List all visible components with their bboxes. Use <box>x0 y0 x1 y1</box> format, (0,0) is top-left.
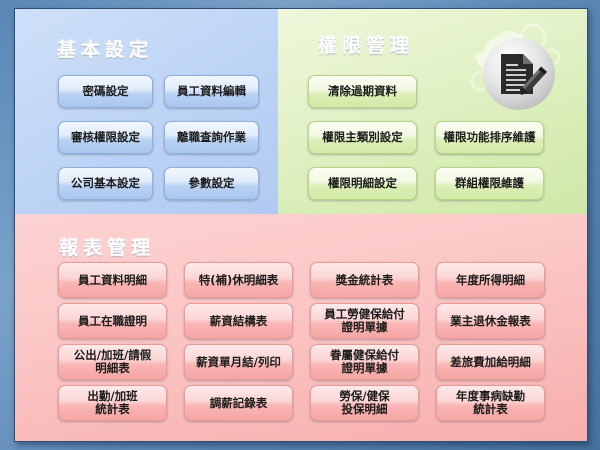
button-label: 權限明細設定 <box>328 177 397 190</box>
panel-title-report-management: 報表管理 <box>59 233 155 260</box>
button-report-13[interactable]: 出勤/加班 統計表 <box>58 385 167 421</box>
button-label: 業主退休金報表 <box>450 315 531 328</box>
button-label: 參數設定 <box>189 177 235 190</box>
button-basic-4[interactable]: 離職查詢作業 <box>164 121 259 154</box>
button-report-5[interactable]: 員工在職證明 <box>58 303 167 339</box>
button-label: 員工勞健保給付 證明單據 <box>324 308 405 334</box>
application-window: 基本設定 權限管理 <box>0 0 600 450</box>
button-label: 清除過期資料 <box>328 85 397 98</box>
button-report-4[interactable]: 年度所得明細 <box>436 262 545 298</box>
button-label: 差旅費加給明細 <box>450 356 531 369</box>
button-basic-6[interactable]: 參數設定 <box>164 167 259 200</box>
button-report-10[interactable]: 薪資單月結/列印 <box>184 344 293 380</box>
button-label: 群組權限維護 <box>455 177 524 190</box>
button-report-2[interactable]: 特(補)休明細表 <box>184 262 293 298</box>
button-label: 獎金統計表 <box>336 274 394 287</box>
button-report-12[interactable]: 差旅費加給明細 <box>436 344 545 380</box>
panel-title-basic-settings: 基本設定 <box>57 35 153 62</box>
button-report-6[interactable]: 薪資結構表 <box>184 303 293 339</box>
button-perm-3[interactable]: 權限功能排序維護 <box>435 121 544 154</box>
button-basic-1[interactable]: 密碼設定 <box>58 75 153 108</box>
button-report-1[interactable]: 員工資料明細 <box>58 262 167 298</box>
button-label: 調薪記錄表 <box>210 397 268 410</box>
button-label: 眷屬健保給付 證明單據 <box>330 349 399 375</box>
button-report-7[interactable]: 員工勞健保給付 證明單據 <box>310 303 419 339</box>
button-label: 離職查詢作業 <box>177 131 246 144</box>
button-report-15[interactable]: 勞保/健保 投保明細 <box>310 385 419 421</box>
button-label: 員工資料明細 <box>78 274 147 287</box>
button-label: 密碼設定 <box>83 85 129 98</box>
button-report-14[interactable]: 調薪記錄表 <box>184 385 293 421</box>
button-label: 權限功能排序維護 <box>444 131 536 144</box>
button-perm-1[interactable]: 清除過期資料 <box>308 75 417 108</box>
button-basic-2[interactable]: 員工資料編輯 <box>164 75 259 108</box>
button-report-11[interactable]: 眷屬健保給付 證明單據 <box>310 344 419 380</box>
button-label: 公出/加班/請假 明細表 <box>74 349 151 375</box>
button-report-8[interactable]: 業主退休金報表 <box>436 303 545 339</box>
button-label: 薪資結構表 <box>210 315 268 328</box>
button-basic-5[interactable]: 公司基本設定 <box>58 167 153 200</box>
button-label: 權限主類別設定 <box>322 131 403 144</box>
document-pencil-icon <box>457 19 577 129</box>
button-label: 薪資單月結/列印 <box>196 356 281 369</box>
button-label: 勞保/健保 投保明細 <box>339 390 389 416</box>
button-label: 員工在職證明 <box>78 315 147 328</box>
window-frame: 基本設定 權限管理 <box>14 8 588 442</box>
button-report-16[interactable]: 年度事病缺勤 統計表 <box>436 385 545 421</box>
button-basic-3[interactable]: 審核權限設定 <box>58 121 153 154</box>
button-label: 特(補)休明細表 <box>199 274 279 287</box>
button-perm-4[interactable]: 權限明細設定 <box>308 167 417 200</box>
panel-title-permission-management: 權限管理 <box>318 31 414 58</box>
button-label: 審核權限設定 <box>71 131 140 144</box>
button-label: 公司基本設定 <box>71 177 140 190</box>
button-label: 出勤/加班 統計表 <box>87 390 137 416</box>
button-report-9[interactable]: 公出/加班/請假 明細表 <box>58 344 167 380</box>
button-label: 年度事病缺勤 統計表 <box>456 390 525 416</box>
button-report-3[interactable]: 獎金統計表 <box>310 262 419 298</box>
button-perm-2[interactable]: 權限主類別設定 <box>308 121 417 154</box>
button-label: 年度所得明細 <box>456 274 525 287</box>
button-label: 員工資料編輯 <box>177 85 246 98</box>
button-perm-5[interactable]: 群組權限維護 <box>435 167 544 200</box>
